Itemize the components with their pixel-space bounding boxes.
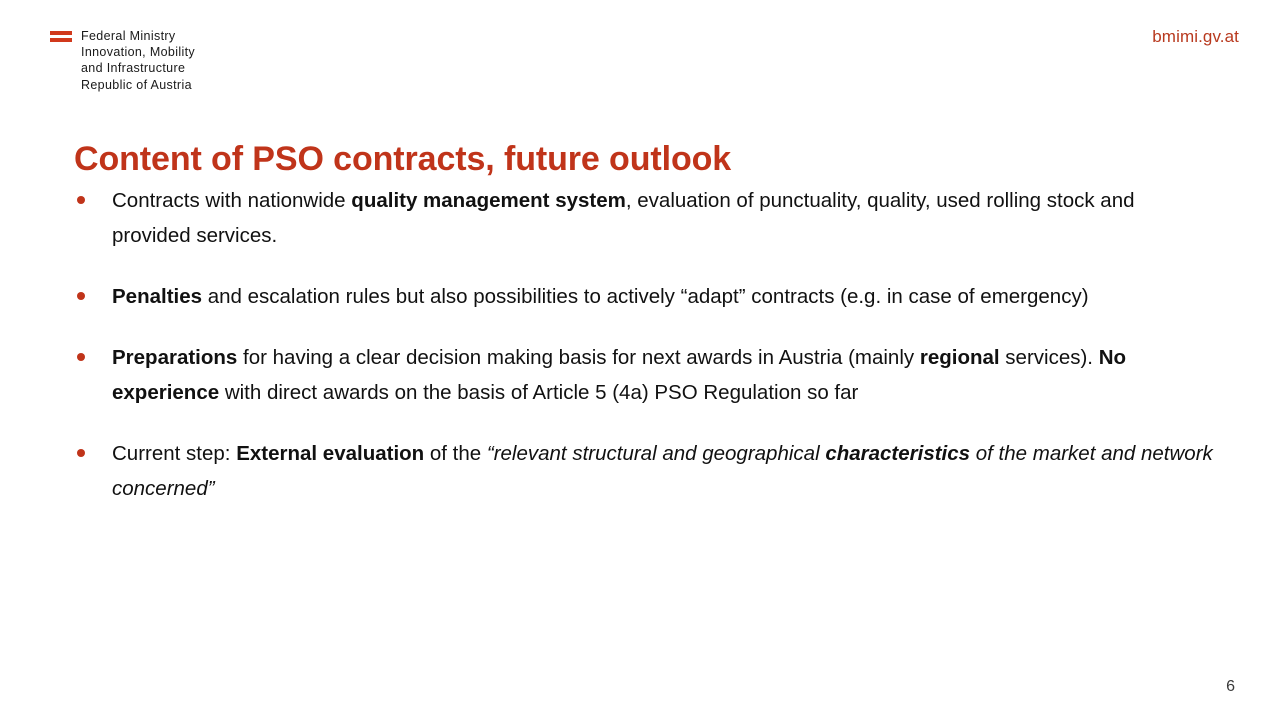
- bullet-marker-icon: [77, 449, 85, 457]
- brand-line-1: Federal Ministry: [81, 28, 195, 44]
- bullet-marker-icon: [77, 196, 85, 204]
- bullet-item: Preparations for having a clear decision…: [74, 340, 1214, 410]
- bullet-text: Preparations for having a clear decision…: [112, 346, 1126, 404]
- bullet-marker-icon: [77, 353, 85, 361]
- page-number: 6: [1226, 678, 1235, 696]
- ministry-brand: Federal Ministry Innovation, Mobility an…: [50, 28, 195, 93]
- slide-header: Federal Ministry Innovation, Mobility an…: [0, 0, 1280, 110]
- bullet-text: Contracts with nationwide quality manage…: [112, 189, 1135, 247]
- slide-title: Content of PSO contracts, future outlook: [74, 138, 1204, 180]
- slide-body: Contracts with nationwide quality manage…: [74, 183, 1214, 506]
- flag-bar-bottom: [50, 38, 72, 42]
- bullet-item: Penalties and escalation rules but also …: [74, 279, 1214, 314]
- austria-flag-icon: [50, 31, 72, 42]
- bullet-item: Contracts with nationwide quality manage…: [74, 183, 1214, 253]
- brand-line-3: and Infrastructure: [81, 60, 195, 76]
- brand-line-2: Innovation, Mobility: [81, 44, 195, 60]
- bullet-item: Current step: External evaluation of the…: [74, 436, 1214, 506]
- ministry-name-block: Federal Ministry Innovation, Mobility an…: [81, 28, 195, 93]
- brand-line-4: Republic of Austria: [81, 77, 195, 93]
- bullet-text: Current step: External evaluation of the…: [112, 442, 1213, 500]
- bullet-marker-icon: [77, 292, 85, 300]
- bullet-text: Penalties and escalation rules but also …: [112, 285, 1089, 308]
- site-url-link[interactable]: bmimi.gv.at: [1152, 27, 1239, 47]
